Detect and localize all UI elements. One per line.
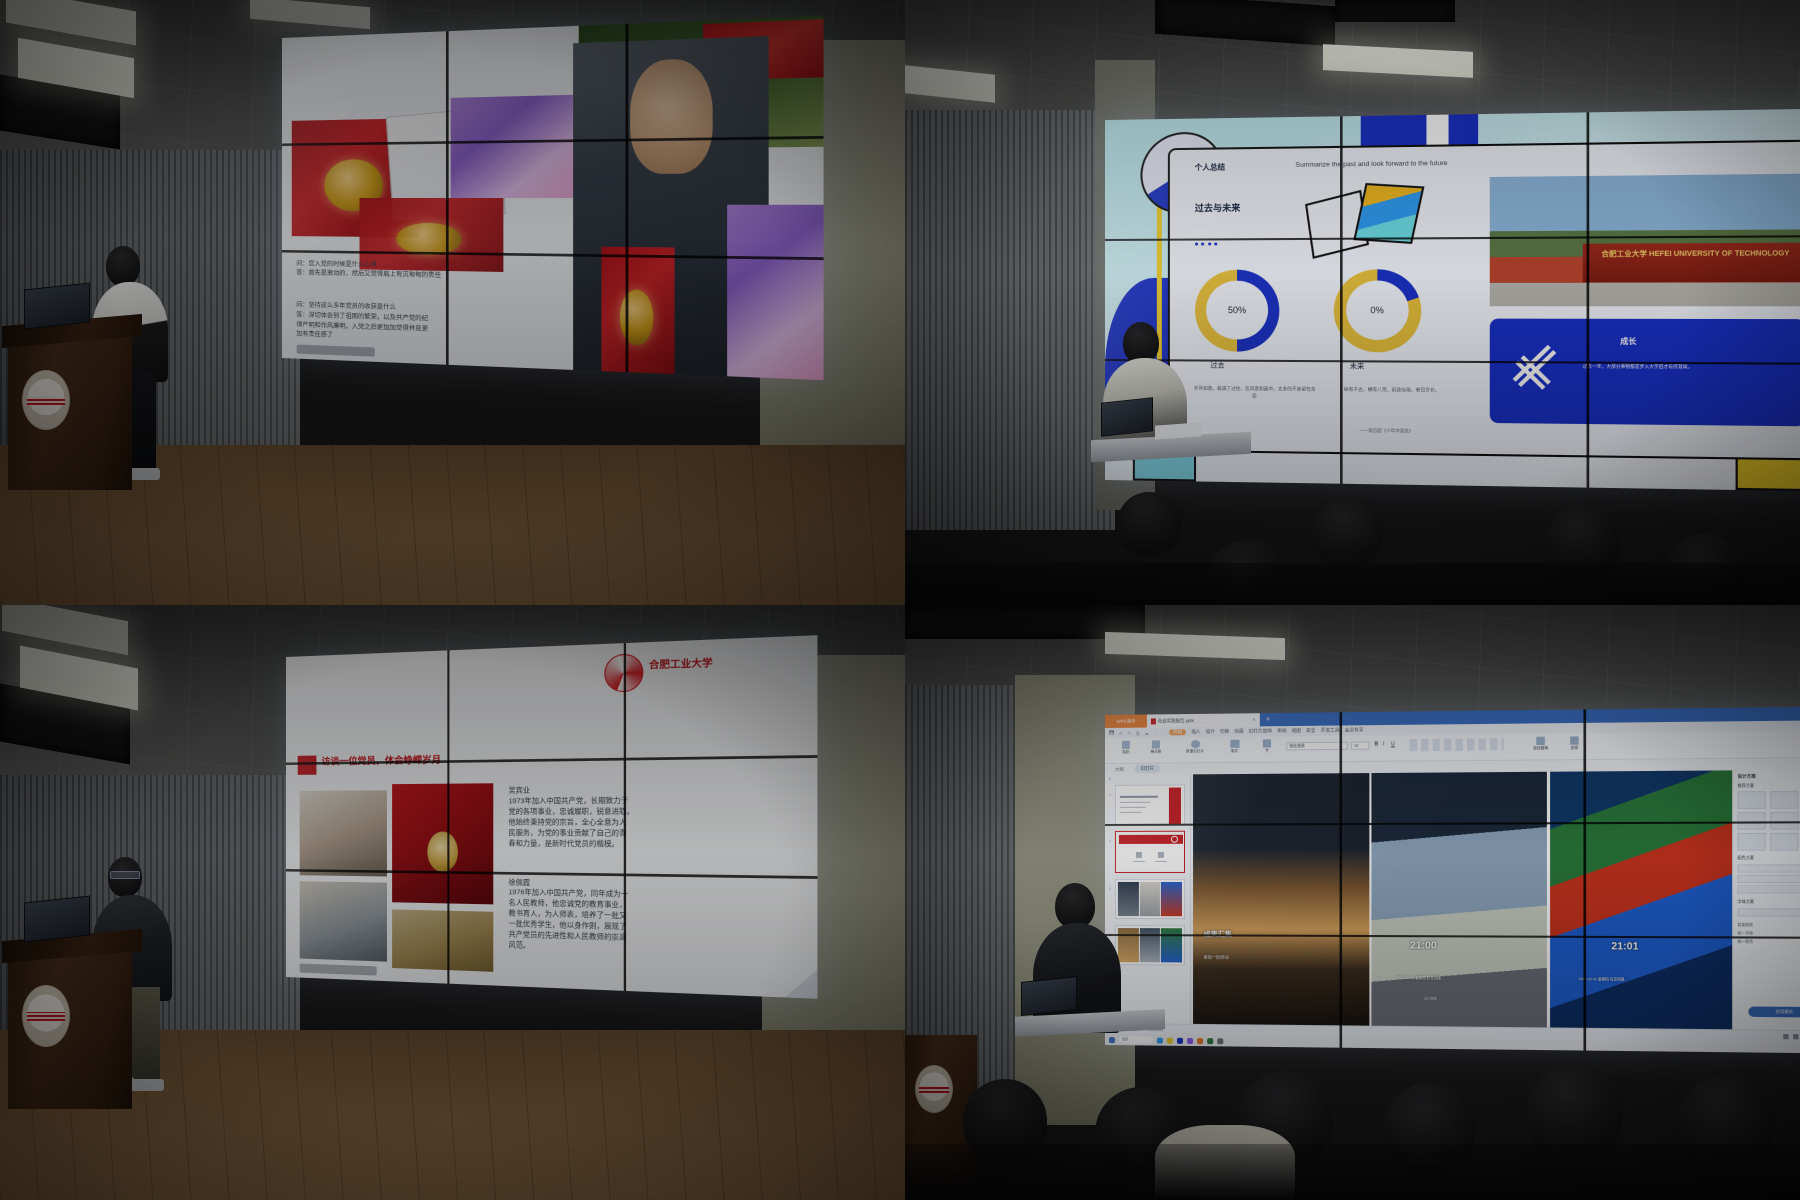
list-item[interactable] xyxy=(1115,784,1185,824)
list-item[interactable] xyxy=(1115,831,1185,873)
ribbon-label: 选择 xyxy=(1571,746,1579,751)
slide-interview: 合肥工业大学 访谈一位党员，体会峥嵘岁月 吴宾业 1973年加入中国共产党，长期… xyxy=(286,635,817,999)
checkbox-skin[interactable]: 智能换肤 xyxy=(1738,923,1754,928)
thumb-index: 2 xyxy=(1109,839,1111,843)
more-icon[interactable]: ⋮ xyxy=(1154,730,1158,735)
canvas-image-forest[interactable]: 成果汇集 参加一回劳动 xyxy=(1193,773,1369,1026)
design-option-row[interactable] xyxy=(1738,885,1800,893)
slide-heading: 过去与未来 xyxy=(1195,200,1241,213)
caption-past: 岁月如歌，载满了过往，在风景如画中，太多的不舍留在身后 xyxy=(1192,384,1318,400)
donut-value: 50% xyxy=(1228,305,1246,315)
audience-foreground xyxy=(905,563,1800,605)
menu-item-devtools[interactable]: 开发工具 xyxy=(1321,728,1340,734)
wps-logo-tab[interactable]: WPS演示 xyxy=(1105,715,1147,728)
store-icon[interactable] xyxy=(1187,1037,1193,1043)
design-thumbnail[interactable] xyxy=(1770,791,1798,809)
bold-button[interactable]: B xyxy=(1375,741,1379,747)
menu-item-view[interactable]: 视图 xyxy=(1292,728,1301,734)
overlay-date: 2024-02-01 星期四 旺苍西路 xyxy=(1396,975,1441,980)
ppt-file-icon xyxy=(1151,718,1156,724)
photo-collage: 问：您入党的时候是什么心情 答：首先是激动的，然后又觉得肩上有沉甸甸的责任 问：… xyxy=(0,0,1800,1200)
paragraph-tools[interactable] xyxy=(1410,738,1504,751)
overlay-timestamp: 21:00 xyxy=(1410,940,1437,951)
design-thumbnail[interactable] xyxy=(1770,833,1798,851)
ribbon-label: 粘贴 xyxy=(1122,750,1129,755)
paste-icon xyxy=(1122,741,1130,749)
donut-label-past: 过去 xyxy=(1210,360,1224,370)
photo-medal-box xyxy=(392,783,493,904)
slide-mini-toolbar[interactable] xyxy=(300,963,377,976)
photo-interview-1 xyxy=(300,791,387,876)
checkbox-color[interactable]: 统一配色 xyxy=(1738,940,1754,945)
menu-item-design[interactable]: 设计 xyxy=(1206,729,1215,735)
body-line: 春和力量，是新时代党员的楷模。 xyxy=(508,839,634,850)
design-panel[interactable]: 设计方案 推荐方案 配色方案 xyxy=(1732,770,1800,1031)
thumb-index: 1 xyxy=(1109,793,1111,797)
design-thumbnail[interactable] xyxy=(1738,812,1766,830)
design-option-row[interactable] xyxy=(1738,908,1800,917)
apply-design-button[interactable]: 应用美化 xyxy=(1748,1006,1800,1017)
thumb-index: 4 xyxy=(1109,933,1111,937)
design-panel-title: 设计方案 xyxy=(1738,773,1756,779)
section-icon xyxy=(1263,739,1271,747)
design-section-color[interactable]: 配色方案 xyxy=(1738,856,1754,861)
print-icon[interactable]: ⎙ xyxy=(1136,730,1139,735)
laptop[interactable] xyxy=(1021,976,1077,1016)
ribbon-format-brush[interactable]: 格式刷 xyxy=(1141,740,1171,754)
pencil-cross-icon xyxy=(1508,344,1564,397)
settings-icon[interactable] xyxy=(1217,1038,1223,1044)
body-block-2: 徐佩霞 1976年加入中国共产党，同年成为一 名人民教师，他忠诚党的教育事业， … xyxy=(508,878,628,955)
thumb-index: 3 xyxy=(1109,887,1111,891)
campus-gate-photo: 合肥工业大学 HEFEI UNIVERSITY OF TECHNOLOGY xyxy=(1489,173,1800,306)
overlay-title: 成果汇集 xyxy=(1203,929,1231,939)
photo-gold-medal xyxy=(392,909,493,972)
ribbon-label: 格式刷 xyxy=(1151,749,1162,754)
explorer-icon[interactable] xyxy=(1167,1037,1173,1043)
font-size-input[interactable]: 18 xyxy=(1351,741,1370,749)
panel-bottom-right: WPS演示 社会实践报告.pptx ✕ + 💾 ↶ ↷ ⎙ xyxy=(905,605,1800,1200)
laptop[interactable] xyxy=(24,283,90,330)
slide-title: 访谈一位党员，体会峥嵘岁月 xyxy=(321,752,441,767)
tab-outline[interactable]: 大纲 xyxy=(1115,767,1124,773)
sorter-view-icon[interactable] xyxy=(1793,1034,1798,1039)
photo-red-medal-box xyxy=(601,246,675,374)
underline-button[interactable]: U xyxy=(1391,741,1395,747)
list-item[interactable] xyxy=(1115,879,1185,919)
ribbon-label: 新建幻灯片 xyxy=(1186,749,1204,754)
presenter-glasses xyxy=(110,871,140,879)
ceiling-vent xyxy=(1335,0,1455,22)
body-line: 他始终秉持党的宗旨，全心全意为人 xyxy=(508,818,634,829)
chat-icon[interactable] xyxy=(1207,1038,1213,1044)
caption-source: ——梁启超《少年中国说》 xyxy=(1359,428,1413,435)
laptop[interactable] xyxy=(24,896,90,943)
slide-party-member: 问：您入党的时候是什么心情 答：首先是激动的，然后又觉得肩上有沉甸甸的责任 问：… xyxy=(282,16,824,380)
podium-emblem xyxy=(22,985,70,1047)
video-wall: WPS演示 社会实践报告.pptx ✕ + 💾 ↶ ↷ ⎙ xyxy=(1105,707,1800,1054)
audience-head xyxy=(1117,492,1181,556)
ribbon-select[interactable]: 选择 xyxy=(1563,736,1586,751)
design-option-row[interactable] xyxy=(1738,875,1800,883)
body-line: 1973年加入中国共产党，长期致力于 xyxy=(508,796,634,807)
search-input[interactable]: 搜索 xyxy=(1119,1036,1153,1043)
ribbon-label: 节 xyxy=(1265,749,1269,754)
new-tab-icon[interactable]: + xyxy=(1260,716,1276,723)
wall-left xyxy=(905,110,1115,530)
ribbon-layout[interactable]: 版式 xyxy=(1221,740,1247,754)
overlay-date: 2024-02-01 星期四 旺苍西路 xyxy=(1579,976,1625,981)
ribbon-section[interactable]: 节 xyxy=(1256,739,1278,753)
font-size-value: 18 xyxy=(1352,744,1358,748)
format-brush-icon xyxy=(1152,740,1160,748)
menu-item-transition[interactable]: 切换 xyxy=(1220,729,1229,735)
presenter-shoe xyxy=(130,1079,164,1091)
audience-head xyxy=(1313,498,1383,568)
design-thumbnail[interactable] xyxy=(1738,791,1766,809)
tab-slides[interactable]: 幻灯片 xyxy=(1135,765,1160,773)
new-slide-icon xyxy=(1191,740,1200,748)
presenter-head xyxy=(106,246,140,286)
design-thumbnail[interactable] xyxy=(1738,833,1766,851)
laptop[interactable] xyxy=(1101,397,1153,436)
menu-item-slideshow[interactable]: 幻灯片放映 xyxy=(1249,728,1272,734)
overlay-timestamp: 21:01 xyxy=(1611,941,1638,953)
cube-colored-icon xyxy=(1353,183,1424,244)
ribbon-label: 版式 xyxy=(1231,749,1238,754)
menu-item-animation[interactable]: 动画 xyxy=(1234,729,1243,735)
podium-emblem xyxy=(22,370,70,430)
podium-emblem xyxy=(915,1065,953,1113)
menu-item-home[interactable]: 开始 xyxy=(1169,729,1186,735)
normal-view-icon[interactable] xyxy=(1784,1033,1789,1038)
photo-interview-2 xyxy=(300,881,387,961)
english-subtitle: Summarize the past and look forward to t… xyxy=(1296,160,1448,169)
photo-flower xyxy=(451,95,579,198)
checkbox-font[interactable]: 统一字体 xyxy=(1738,931,1754,936)
italic-button[interactable]: I xyxy=(1383,741,1384,747)
university-logo-icon xyxy=(605,653,644,693)
thumbnail-panel-header: ▾ xyxy=(1109,777,1111,781)
growth-card: 成长 过去一年，大部分事物都是步入大学后才有所耳闻。 xyxy=(1489,318,1800,426)
panel-top-right: 个人总结 Summarize the past and look forward… xyxy=(905,0,1800,605)
redo-icon[interactable]: ↷ xyxy=(1128,730,1132,735)
overlay-watermark: 水印相机 xyxy=(1424,996,1437,1001)
design-option-row[interactable] xyxy=(1738,864,1800,872)
design-thumbnail[interactable] xyxy=(1770,812,1798,830)
campus-gate-text: 合肥工业大学 HEFEI UNIVERSITY OF TECHNOLOGY xyxy=(1601,248,1789,259)
document-tab[interactable]: 社会实践报告.pptx ✕ xyxy=(1147,713,1260,727)
menu-item-member[interactable]: 会员专享 xyxy=(1345,727,1364,733)
ribbon-label: 查找替换 xyxy=(1533,746,1548,751)
document-tab-label: 社会实践报告.pptx xyxy=(1158,717,1194,723)
donut-future: 0% xyxy=(1334,269,1421,352)
university-logo-text: 合肥工业大学 xyxy=(649,655,713,672)
video-wall: 合肥工业大学 访谈一位党员，体会峥嵘岁月 吴宾业 1973年加入中国共产党，长期… xyxy=(286,635,817,999)
section-label: 个人总结 xyxy=(1195,161,1225,172)
wps-icon[interactable] xyxy=(1197,1038,1203,1044)
cloud-icon[interactable]: ☁ xyxy=(1145,730,1149,735)
donut-value: 0% xyxy=(1370,306,1384,316)
design-section-recommend[interactable]: 推荐方案 xyxy=(1738,784,1754,789)
ribbon-new-slide[interactable]: 新建幻灯片 xyxy=(1177,740,1213,754)
page-curl xyxy=(785,968,817,999)
qa-text-group-2: 问：坚持这么多年党员的收获是什么 答：深切体会到了祖国的繁荣，以及共产党的纪 律… xyxy=(296,301,573,350)
growth-card-body: 过去一年，大部分事物都是步入大学后才有所耳闻。 xyxy=(1583,363,1781,372)
menu-item-insert[interactable]: 插入 xyxy=(1191,729,1200,735)
overlay-subtitle: 参加一回劳动 xyxy=(1203,954,1228,960)
ribbon-find-replace[interactable]: 查找替换 xyxy=(1525,737,1557,752)
person-name: 吴宾业 xyxy=(508,786,634,797)
qa-text-group-1: 问：您入党的时候是什么心情 答：首先是激动的，然后又觉得肩上有沉甸甸的责任 xyxy=(296,259,562,284)
font-name-value: 微软雅黑 xyxy=(1287,744,1305,748)
caption-future: 纵有千古，横有八荒，前途似海，来日方长。 xyxy=(1327,385,1456,394)
slide-mini-toolbar[interactable] xyxy=(296,344,374,357)
edge-icon[interactable] xyxy=(1157,1037,1163,1043)
ribbon-paste[interactable]: 粘贴 xyxy=(1113,741,1139,755)
canvas-image-shelf[interactable]: 21:01 2024-02-01 星期四 旺苍西路 xyxy=(1550,770,1732,1029)
windows-start-icon[interactable] xyxy=(1109,1037,1115,1043)
layout-icon xyxy=(1230,740,1239,748)
panel-bottom-left: 合肥工业大学 访谈一位党员，体会峥嵘岁月 吴宾业 1973年加入中国共产党，长期… xyxy=(0,605,905,1200)
body-block-1: 吴宾业 1973年加入中国共产党，长期致力于 党的各项事业，忠诚履职，锐意进取。… xyxy=(508,786,634,851)
select-icon xyxy=(1570,736,1578,744)
slide-canvas[interactable]: 成果汇集 参加一回劳动 21:00 2024-02-01 星期四 旺苍西路 水印… xyxy=(1193,770,1732,1029)
bullet-dots xyxy=(1195,243,1218,246)
title-red-mark xyxy=(298,756,317,776)
donut-past: 50% xyxy=(1195,270,1280,352)
video-wall: 问：您入党的时候是什么心情 答：首先是激动的，然后又觉得肩上有沉甸甸的责任 问：… xyxy=(282,16,824,380)
donut-label-future: 未来 xyxy=(1350,361,1365,371)
undo-icon[interactable]: ↶ xyxy=(1119,730,1123,735)
photo-flower-right xyxy=(727,205,824,380)
growth-card-title: 成长 xyxy=(1620,336,1636,348)
panel-top-left: 问：您入党的时候是什么心情 答：首先是激动的，然后又觉得肩上有沉甸甸的责任 问：… xyxy=(0,0,905,605)
body-line: 民服务，为党的事业贡献了自己的青 xyxy=(508,828,634,839)
design-section-font[interactable]: 字体方案 xyxy=(1738,900,1754,905)
menu-item-security[interactable]: 安全 xyxy=(1306,728,1315,734)
wps-office-window: WPS演示 社会实践报告.pptx ✕ + 💾 ↶ ↷ ⎙ xyxy=(1105,707,1800,1054)
menu-item-review[interactable]: 审阅 xyxy=(1277,728,1286,734)
audience-foreground xyxy=(905,1144,1800,1200)
close-tab-icon[interactable]: ✕ xyxy=(1252,717,1256,723)
find-replace-icon xyxy=(1536,737,1544,745)
slide-content-frame: 个人总结 Summarize the past and look forward… xyxy=(1168,139,1800,461)
font-name-input[interactable]: 微软雅黑 xyxy=(1286,742,1347,751)
body-line: 党的各项事业，忠诚履职，锐意进取。 xyxy=(508,807,634,818)
list-item[interactable] xyxy=(1115,925,1185,965)
save-icon[interactable]: 💾 xyxy=(1109,730,1114,736)
mail-icon[interactable] xyxy=(1177,1037,1183,1043)
canvas-image-street[interactable]: 21:00 2024-02-01 星期四 旺苍西路 水印相机 xyxy=(1372,772,1547,1028)
